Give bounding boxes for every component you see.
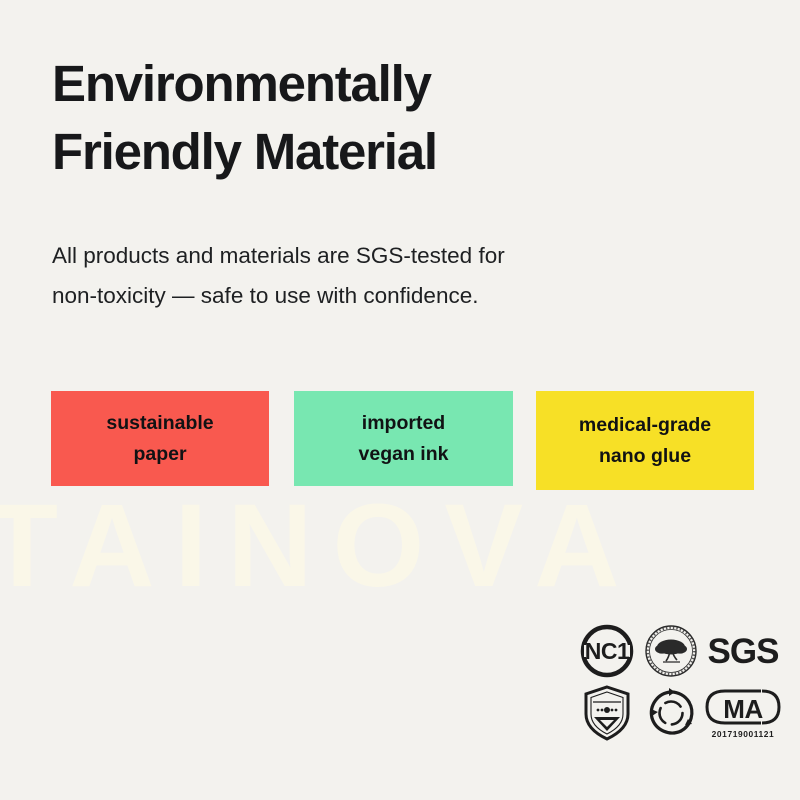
forest-tree-seal-icon — [643, 623, 699, 679]
shield-certification-icon — [582, 684, 632, 742]
material-badge-row: sustainable paper imported vegan ink med… — [51, 391, 754, 491]
poster-canvas: TAINOVA Environmentally Friendly Materia… — [0, 0, 800, 800]
badge-sustainable-paper: sustainable paper — [51, 391, 269, 486]
page-title: Environmentally Friendly Material — [52, 50, 672, 187]
sgs-certification-icon: SGS — [705, 630, 781, 672]
svg-text:NC1: NC1 — [585, 638, 630, 664]
badge-sustainable-paper-line-2: paper — [133, 439, 186, 469]
page-title-line-2: Friendly Material — [52, 118, 672, 186]
badge-medical-grade-nano-glue: medical-grade nano glue — [536, 391, 754, 490]
badge-medical-grade-nano-glue-line-2: nano glue — [599, 441, 691, 471]
badge-sustainable-paper-line-1: sustainable — [106, 408, 213, 438]
brand-watermark: TAINOVA — [0, 487, 800, 605]
svg-text:MA: MA — [723, 694, 763, 724]
certification-logo-grid: NC1 SGS — [575, 620, 783, 744]
badge-medical-grade-nano-glue-line-1: medical-grade — [579, 410, 711, 440]
nc1-certification-icon: NC1 — [578, 622, 636, 680]
page-title-line-1: Environmentally — [52, 55, 431, 112]
cma-certification-number: 201719001121 — [712, 729, 775, 739]
badge-imported-vegan-ink: imported vegan ink — [294, 391, 513, 486]
badge-imported-vegan-ink-line-2: vegan ink — [359, 439, 449, 469]
description-text: All products and materials are SGS-teste… — [52, 236, 672, 316]
description-line-1: All products and materials are SGS-teste… — [52, 243, 505, 268]
description-line-2: non-toxicity — safe to use with confiden… — [52, 276, 672, 316]
recycling-arrows-icon — [643, 685, 699, 741]
badge-imported-vegan-ink-line-1: imported — [362, 408, 445, 438]
cma-certification-icon: MA 201719001121 — [703, 685, 783, 741]
svg-text:SGS: SGS — [708, 632, 779, 671]
